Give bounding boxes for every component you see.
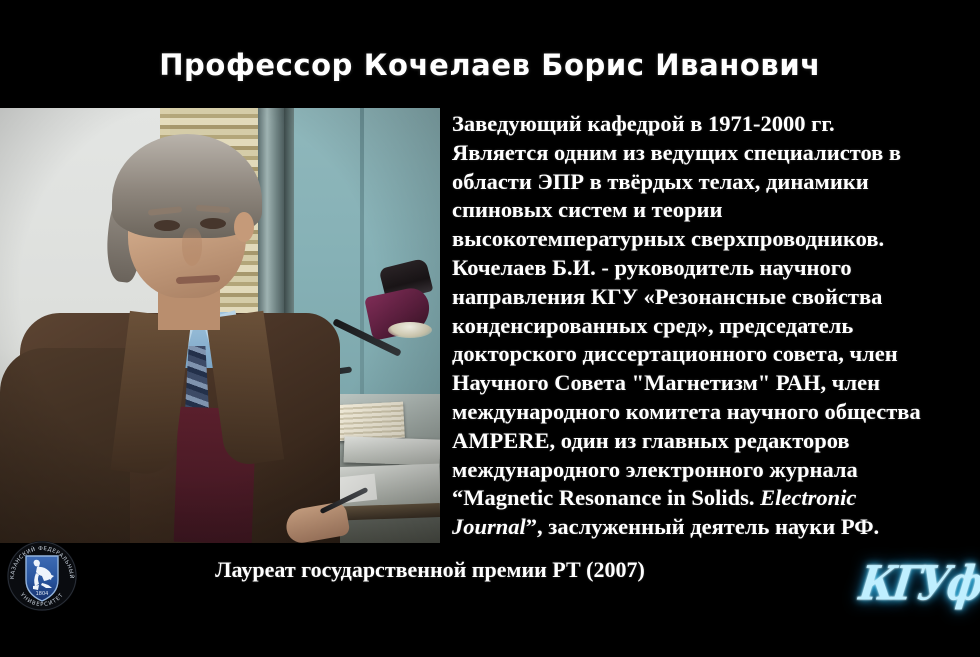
slide-root: Профессор Кочелаев Борис Иванович <box>0 0 980 657</box>
kgu-logo: КГУф <box>868 552 972 614</box>
kgu-wordmark: КГУф <box>856 555 980 610</box>
kfu-emblem-icon: КАЗАНСКИЙ ФЕДЕРАЛЬНЫЙ УНИВЕРСИТЕТ 1804 <box>6 540 78 612</box>
bio-line: Является одним из ведущих специалистов в <box>452 139 972 168</box>
biography-text: Заведующий кафедрой в 1971-2000 гг. Явля… <box>452 110 972 542</box>
bio-line: спиновых систем и теории <box>452 196 972 225</box>
bio-line: AMPERE, один из главных редакторов <box>452 427 972 456</box>
bio-line: направления КГУ «Резонансные свойства <box>452 283 972 312</box>
bio-line: Заведующий кафедрой в 1971-2000 гг. <box>452 110 972 139</box>
journal-title-italic-1: Electronic <box>760 485 856 510</box>
professor-photo <box>0 108 440 543</box>
bio-line-journal-2: Journal”, заслуженный деятель науки РФ. <box>452 513 972 542</box>
page-title: Профессор Кочелаев Борис Иванович <box>0 48 980 82</box>
bio-line-journal-1: “Magnetic Resonance in Solids. Electroni… <box>452 484 972 513</box>
journal-title-suffix: ”, заслуженный деятель науки РФ. <box>526 514 879 539</box>
photo-vignette <box>0 108 440 543</box>
award-caption: Лауреат государственной премии РТ (2007) <box>120 557 740 583</box>
bio-line: международного комитета научного обществ… <box>452 398 972 427</box>
bio-line: области ЭПР в твёрдых телах, динамики <box>452 168 972 197</box>
kfu-shield-year: 1804 <box>36 591 49 597</box>
bio-line: высокотемпературных сверхпроводников. <box>452 225 972 254</box>
bio-line: Научного Совета "Магнетизм" РАН, член <box>452 369 972 398</box>
bio-line: докторского диссертационного совета, чле… <box>452 340 972 369</box>
bio-line: конденсированных сред», председатель <box>452 312 972 341</box>
bio-line: Кочелаев Б.И. - руководитель научного <box>452 254 972 283</box>
journal-title-italic-2: Journal <box>452 514 526 539</box>
photo-scene <box>0 108 440 543</box>
journal-title-prefix: “Magnetic Resonance in Solids. <box>452 485 760 510</box>
kfu-logo: КАЗАНСКИЙ ФЕДЕРАЛЬНЫЙ УНИВЕРСИТЕТ 1804 <box>6 540 78 612</box>
bio-line: международного электронного журнала <box>452 456 972 485</box>
